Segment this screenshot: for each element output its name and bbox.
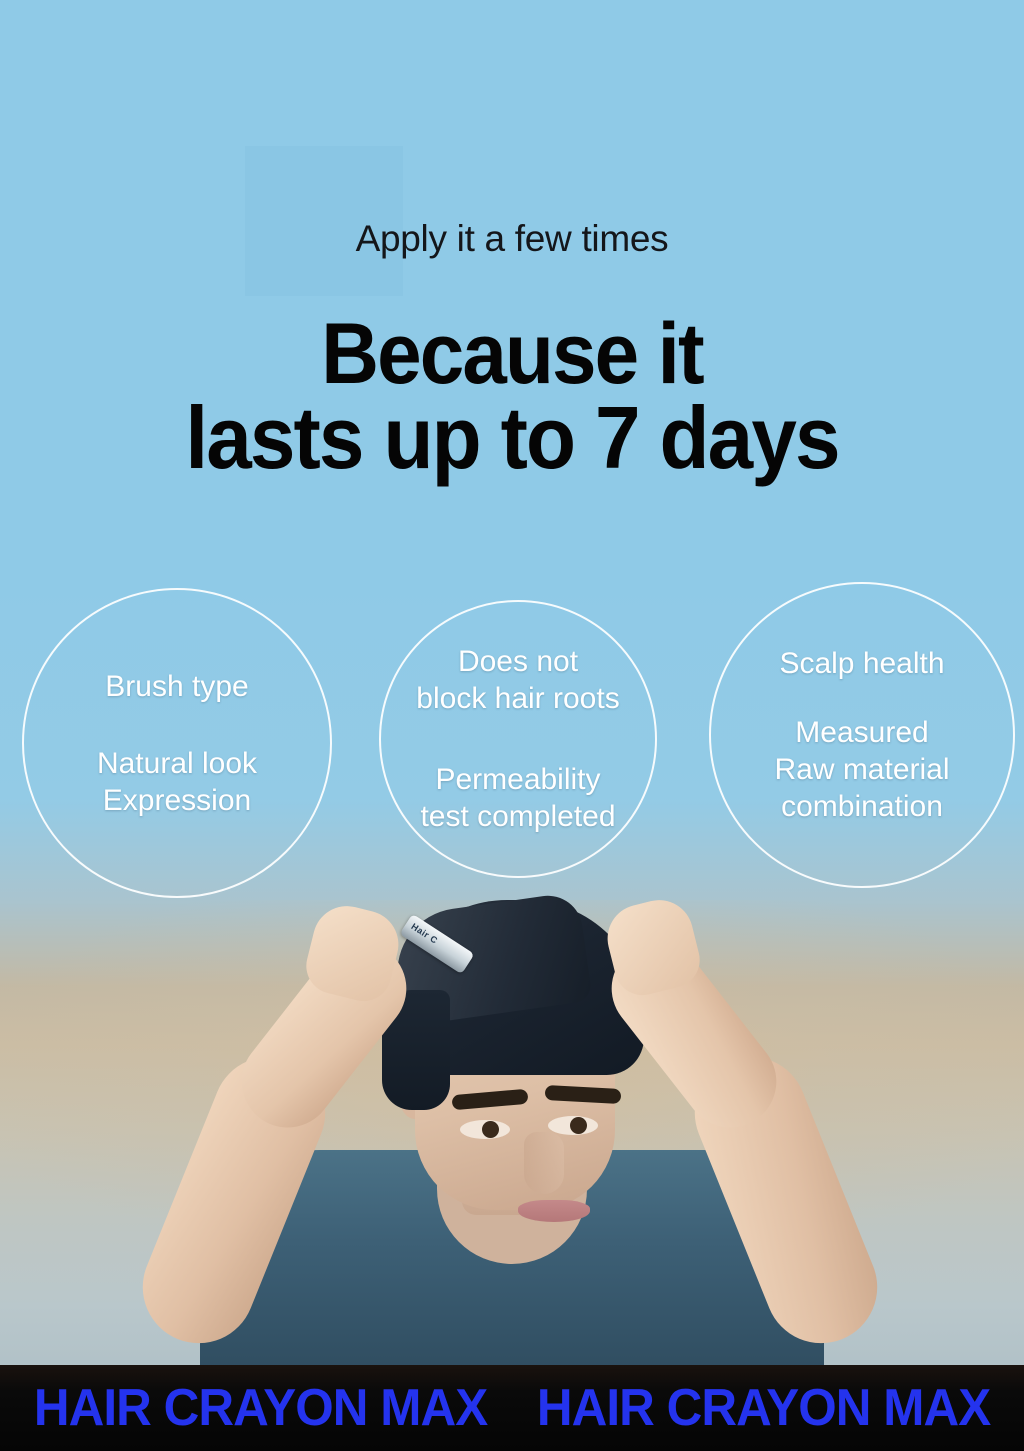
model-left-eye xyxy=(460,1120,510,1139)
feature-2-body-line-1: Permeability xyxy=(435,763,600,796)
feature-circle-brush-type: Brush type Natural look Expression xyxy=(22,588,332,898)
headline: Because it lasts up to 7 days xyxy=(36,312,988,480)
model-right-eye xyxy=(548,1116,598,1135)
feature-2-body-line-2: test completed xyxy=(420,800,615,833)
headline-line-2: lasts up to 7 days xyxy=(36,396,988,480)
feature-1-body-line-1: Natural look xyxy=(97,747,257,780)
feature-3-body-line-2: Raw material xyxy=(774,753,949,786)
feature-2-heading-line-1: Does not xyxy=(458,645,578,678)
feature-1-body-line-2: Expression xyxy=(103,784,251,817)
feature-1-body: Natural look Expression xyxy=(97,745,257,819)
feature-circle-hair-roots: Does not block hair roots Permeability t… xyxy=(379,600,657,878)
feature-3-body-line-1: Measured xyxy=(795,716,928,749)
feature-3-body: Measured Raw material combination xyxy=(774,714,949,825)
feature-1-heading: Brush type xyxy=(105,668,248,705)
feature-2-heading-line-2: block hair roots xyxy=(416,682,619,715)
feature-circle-scalp-health: Scalp health Measured Raw material combi… xyxy=(709,582,1015,888)
advertisement-poster: Hair C Apply it a few times Because it l… xyxy=(0,0,1024,1451)
feature-2-heading: Does not block hair roots xyxy=(416,643,619,717)
brand-name-left: HAIR CRAYON MAX xyxy=(34,1378,487,1438)
subtitle: Apply it a few times xyxy=(0,218,1024,260)
model-lips xyxy=(518,1200,590,1222)
feature-3-body-line-3: combination xyxy=(781,790,943,823)
model-photo: Hair C xyxy=(0,880,1024,1380)
model-nose xyxy=(524,1132,564,1194)
feature-2-body: Permeability test completed xyxy=(420,761,615,835)
feature-3-heading: Scalp health xyxy=(779,645,944,682)
brand-banner: HAIR CRAYON MAX HAIR CRAYON MAX xyxy=(0,1365,1024,1451)
brand-name-right: HAIR CRAYON MAX xyxy=(537,1378,990,1438)
